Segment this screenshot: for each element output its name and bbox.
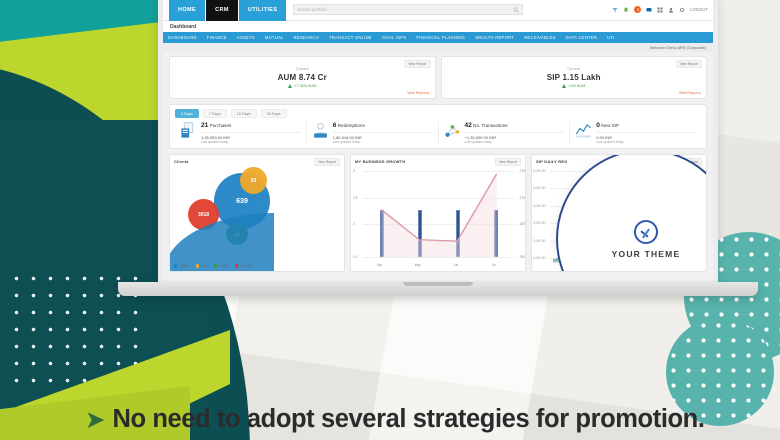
secondary-menu-bar: DASHBOARD FINANCE ASSETS MUTUAL RESEARCH… [163,32,713,43]
menu-item-dashboard[interactable]: DASHBOARD [163,35,202,40]
x-tick-jul: Jul [492,263,496,267]
axis-line-x [363,257,515,258]
kpi-card-aum[interactable]: View Report Current AUM 8.74 Cr +7.32% A… [169,56,436,99]
stat-redemptions-top: 6 Redemptions [333,122,433,129]
app-top-bar: HOME CRM UTILITIES Search portfolio [163,0,713,21]
kpi-card-sip[interactable]: View Report Current SIP 1.15 Lakh +4% AU… [441,56,708,99]
chat-icon[interactable] [646,7,652,13]
your-theme-label: YOUR THEME [612,249,681,259]
y2-tick: 275 [520,169,525,173]
y-tick: 3 [353,169,355,173]
aum-delta-text: +7.32% AUM [294,84,316,88]
stat-purchases-body: 21 Purchases 1,26,953.00 INR Last update… [201,122,301,144]
laptop-lid: HOME CRM UTILITIES Search portfolio [158,0,718,286]
day-filter-chips: 1 Days 7 Days 15 Days 30 Days [175,109,701,118]
notification-badge[interactable]: 5 [634,6,641,13]
nav-tab-home[interactable]: HOME [169,0,206,21]
y2-tick: 250 [520,255,525,259]
theme-badge-icon [634,220,658,244]
y-tick: 2,000.00 [533,239,545,243]
stat-purchases-count: 21 [201,122,208,129]
clients-bubble-chart-card[interactable]: Clients View Report 639 3018 93 93 Clien… [169,154,345,272]
toolbar-icons: 5 LOGOUT [612,6,713,13]
menu-item-finance[interactable]: FINANCE [202,35,232,40]
stat-purchases-label: Purchases [210,123,232,128]
stat-redemptions-count: 6 [333,122,337,129]
stats-row: 21 Purchases 1,26,953.00 INR Last update… [175,122,701,144]
menu-item-receivables[interactable]: RECEIVABLES [519,35,561,40]
user-icon[interactable] [668,7,674,13]
menu-item-transact-online[interactable]: TRANSACT ONLINE [324,35,377,40]
y2-tick: 260 [520,222,525,226]
stat-new-sip-body: 0 New SIP 0.00 INR Last updated today [596,122,696,144]
laptop-mockup: HOME CRM UTILITIES Search portfolio [140,0,736,294]
poster-canvas: HOME CRM UTILITIES Search portfolio [0,0,780,440]
y-tick: 6,000.00 [533,169,545,173]
growth-plot-area: 3 2.5 2 1.0 275 270 260 250 [363,171,515,257]
laptop-screen: HOME CRM UTILITIES Search portfolio [163,0,713,281]
stat-new-sip-label: New SIP [601,123,619,128]
stat-redemptions-amount: 1,80,318.00 INR [333,132,433,140]
welcome-bar: Welcome Demo ARN (Corporate) [163,43,713,52]
stat-new-sip-top: 0 New SIP [596,122,696,129]
y-tick: 1,000.00 [533,256,545,260]
sip-view-report-button[interactable]: View Report [676,60,702,68]
breadcrumb: Dashboard [170,24,196,30]
x-tick-may: May [415,263,421,267]
sip-value: SIP 1.15 Lakh [547,73,601,82]
stat-redemptions-sub: Last updated today [333,140,433,144]
sip-delta-text: +4% AUM [568,84,585,88]
stats-panel: 1 Days 7 Days 15 Days 30 Days [169,104,707,149]
chip-7-days[interactable]: 7 Days [203,109,227,118]
legend-label-active: Active [219,264,228,268]
aum-view-report-button[interactable]: View Report [404,60,430,68]
growth-line-series [363,171,515,257]
menu-item-assets[interactable]: ASSETS [232,35,260,40]
y2-tick: 270 [520,196,525,200]
search-area: Search portfolio [287,4,612,15]
search-icon[interactable] [513,7,519,13]
trend-sip-icon [575,122,592,139]
x-tick-apr: Apr [377,263,382,267]
nav-tab-crm[interactable]: CRM [206,0,239,21]
bell-icon[interactable] [623,7,629,13]
clients-view-report-button[interactable]: View Report [314,158,340,166]
stat-transactions-count: 42 [465,122,472,129]
stat-new-sip[interactable]: 0 New SIP 0.00 INR Last updated today [570,122,701,144]
y-tick: 3,000.00 [533,221,545,225]
menu-item-wealth-report[interactable]: WEALTH REPORT [470,35,519,40]
stat-redemptions-label: Redemptions [338,123,365,128]
aum-label: Current [296,67,309,71]
legend-item-active[interactable]: Active [214,264,229,268]
chip-15-days[interactable]: 15 Days [231,109,257,118]
stat-transactions-label: No. Transactions [473,123,507,128]
menu-item-data-center[interactable]: DATA CENTER [561,35,602,40]
aum-view-more-link[interactable]: View Report ▸ [407,91,429,95]
business-growth-chart-card[interactable]: MY BUSINESS GROWTH View Report 3 2.5 2 [350,154,526,272]
nav-tab-utilities[interactable]: UTILITIES [239,0,288,21]
document-purchase-icon [180,122,197,139]
clients-chart-legend: Clients New Active InActive [174,264,252,268]
legend-item-clients[interactable]: Clients [174,264,190,268]
redemption-icon [312,122,329,139]
menu-item-research[interactable]: RESEARCH [289,35,324,40]
stat-purchases[interactable]: 21 Purchases 1,26,953.00 INR Last update… [175,122,307,144]
aum-delta: +7.32% AUM [288,84,316,88]
logout-button[interactable]: LOGOUT [690,7,708,12]
filter-icon[interactable] [612,7,618,13]
stat-purchases-amount: 1,26,953.00 INR [201,132,301,140]
laptop-base [118,282,758,296]
charts-row: Clients View Report 639 3018 93 93 Clien… [169,154,707,272]
aum-value: AUM 8.74 Cr [278,73,327,82]
y-tick: 5,000.00 [533,186,545,190]
legend-swatch-inactive [235,264,238,267]
menu-item-goal-sips[interactable]: GOAL SIPS [377,35,411,40]
legend-label-new: New [201,264,208,268]
sip-label: Current [567,67,580,71]
kpi-row: View Report Current AUM 8.74 Cr +7.32% A… [169,56,707,99]
stat-purchases-sub: Last updated today [201,140,301,144]
y-tick: 4,000.00 [533,204,545,208]
legend-label-clients: Clients [179,264,189,268]
search-placeholder: Search portfolio [297,7,326,12]
y-tick: 1.0 [353,255,357,259]
primary-nav-tabs: HOME CRM UTILITIES [169,0,287,21]
bubble-active[interactable]: 93 [240,167,267,194]
dashboard-body: View Report Current AUM 8.74 Cr +7.32% A… [163,52,713,276]
legend-item-inactive[interactable]: InActive [235,264,252,268]
headline-text: No need to adopt several strategies for … [112,405,704,434]
legend-item-new[interactable]: New [196,264,208,268]
sip-view-more-link[interactable]: View Report ▸ [679,91,701,95]
y-tick: 2 [353,222,355,226]
network-transactions-icon [444,122,461,139]
stat-transactions-sub: Last updated today [465,140,565,144]
gear-icon[interactable] [679,7,685,13]
growth-view-report-button[interactable]: View Report [495,158,521,166]
up-arrow-icon [288,84,292,88]
sip-delta: +4% AUM [562,84,585,88]
stat-new-sip-count: 0 [596,122,600,129]
chip-1-days[interactable]: 1 Days [175,109,199,118]
menu-item-financial-planning[interactable]: FINANCIAL PLANNING [411,35,470,40]
x-tick-jun: Jun [453,263,458,267]
stat-new-sip-amount: 0.00 INR [596,132,696,140]
arrow-bullet-icon: ➤ [86,409,104,431]
legend-swatch-active [214,264,217,267]
legend-swatch-new [196,264,199,267]
stat-redemptions-body: 6 Redemptions 1,80,318.00 INR Last updat… [333,122,433,144]
stat-new-sip-sub: Last updated today [596,140,696,144]
chip-30-days[interactable]: 30 Days [261,109,287,118]
menu-item-mutual[interactable]: MUTUAL [260,35,289,40]
breadcrumb-bar: Dashboard [163,21,713,32]
grid-icon[interactable] [657,7,663,13]
headline-block: ➤ No need to adopt several strategies fo… [86,405,776,434]
stat-transactions-body: 42 No. Transactions +1,35,000.00 INR Las… [465,122,565,144]
welcome-text: Welcome Demo ARN (Corporate) [650,46,706,50]
stat-transactions[interactable]: 42 No. Transactions +1,35,000.00 INR Las… [439,122,571,144]
y-tick: 2.5 [353,196,357,200]
stat-transactions-top: 42 No. Transactions [465,122,565,129]
legend-label-inactive: InActive [240,264,252,268]
up-arrow-icon [562,84,566,88]
menu-item-uti[interactable]: UTI [602,35,620,40]
stat-redemptions[interactable]: 6 Redemptions 1,80,318.00 INR Last updat… [307,122,439,144]
search-input[interactable]: Search portfolio [293,4,523,15]
sip-daily-chart-card[interactable]: SIP DAILY REG View Report 6,000.00 5 [531,154,707,272]
stat-purchases-top: 21 Purchases [201,122,301,129]
stat-transactions-amount: +1,35,000.00 INR [465,132,565,140]
legend-swatch-clients [174,264,177,267]
